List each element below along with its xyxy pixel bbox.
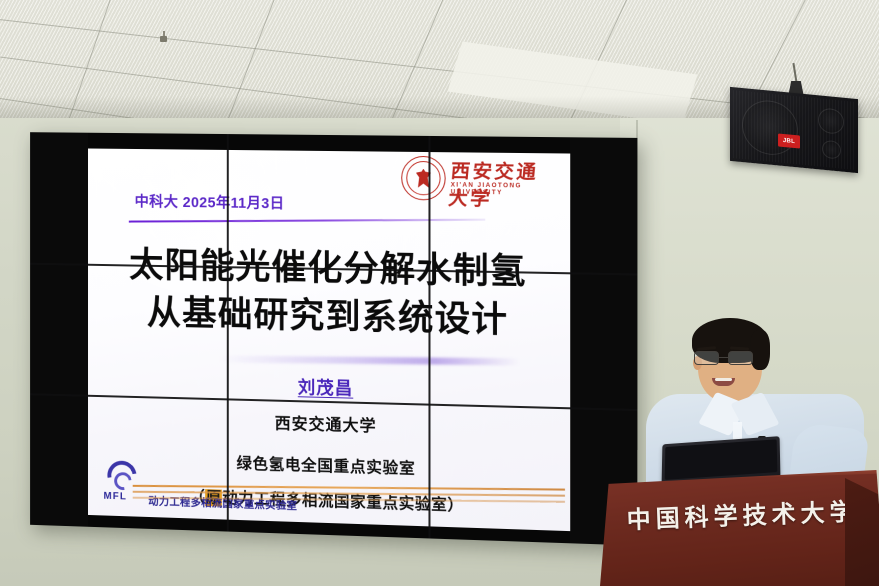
xjtu-logo: 西安交通大学 XI'AN JIAOTONG UNIVERSITY [399, 150, 554, 208]
mfl-footer-logo: MFL 动力工程多相流国家重点实验室 [102, 460, 399, 519]
speaker-brand-label: JBL [783, 137, 795, 144]
slide-title: 太阳能光催化分解水制氢 从基础研究到系统设计 [88, 241, 570, 345]
lecture-hall-scene: JBL 中科大 2025年11月3日 西安交通大学 XI'AN JIAOTONG… [0, 0, 879, 586]
videowall-bezel-vertical [428, 136, 430, 539]
speaker-cabinet: JBL [730, 87, 858, 173]
mfl-logo-mark: MFL [104, 491, 127, 503]
lectern-podium: 中国科学技术大学 [600, 470, 879, 586]
speaker-brand-badge: JBL [778, 133, 800, 148]
presenter-email: maochangliu@mail.xjtu.edu.cn [88, 517, 570, 531]
videowall-letterbox-left [30, 132, 88, 527]
slide-date-line: 中科大 2025年11月3日 [135, 190, 285, 213]
presentation-slide: 中科大 2025年11月3日 西安交通大学 XI'AN JIAOTONG UNI… [88, 148, 570, 531]
sprinkler-icon [160, 31, 167, 44]
slide-title-line-2: 从基础研究到系统设计 [88, 288, 570, 346]
xjtu-name-en: XI'AN JIAOTONG UNIVERSITY [451, 182, 554, 197]
podium-side-panel [845, 478, 879, 586]
led-video-wall: 中科大 2025年11月3日 西安交通大学 XI'AN JIAOTONG UNI… [30, 132, 637, 545]
videowall-bezel-vertical [227, 134, 229, 532]
presenter-affiliation: 西安交通大学 [88, 405, 570, 442]
xjtu-seal-icon [401, 156, 445, 201]
podium-institution-label: 中国科学技术大学 [599, 491, 879, 536]
wall-speaker: JBL [730, 93, 860, 175]
title-accent-band [219, 356, 520, 366]
glasses-icon [694, 351, 760, 366]
slide-divider-rule [129, 219, 485, 223]
